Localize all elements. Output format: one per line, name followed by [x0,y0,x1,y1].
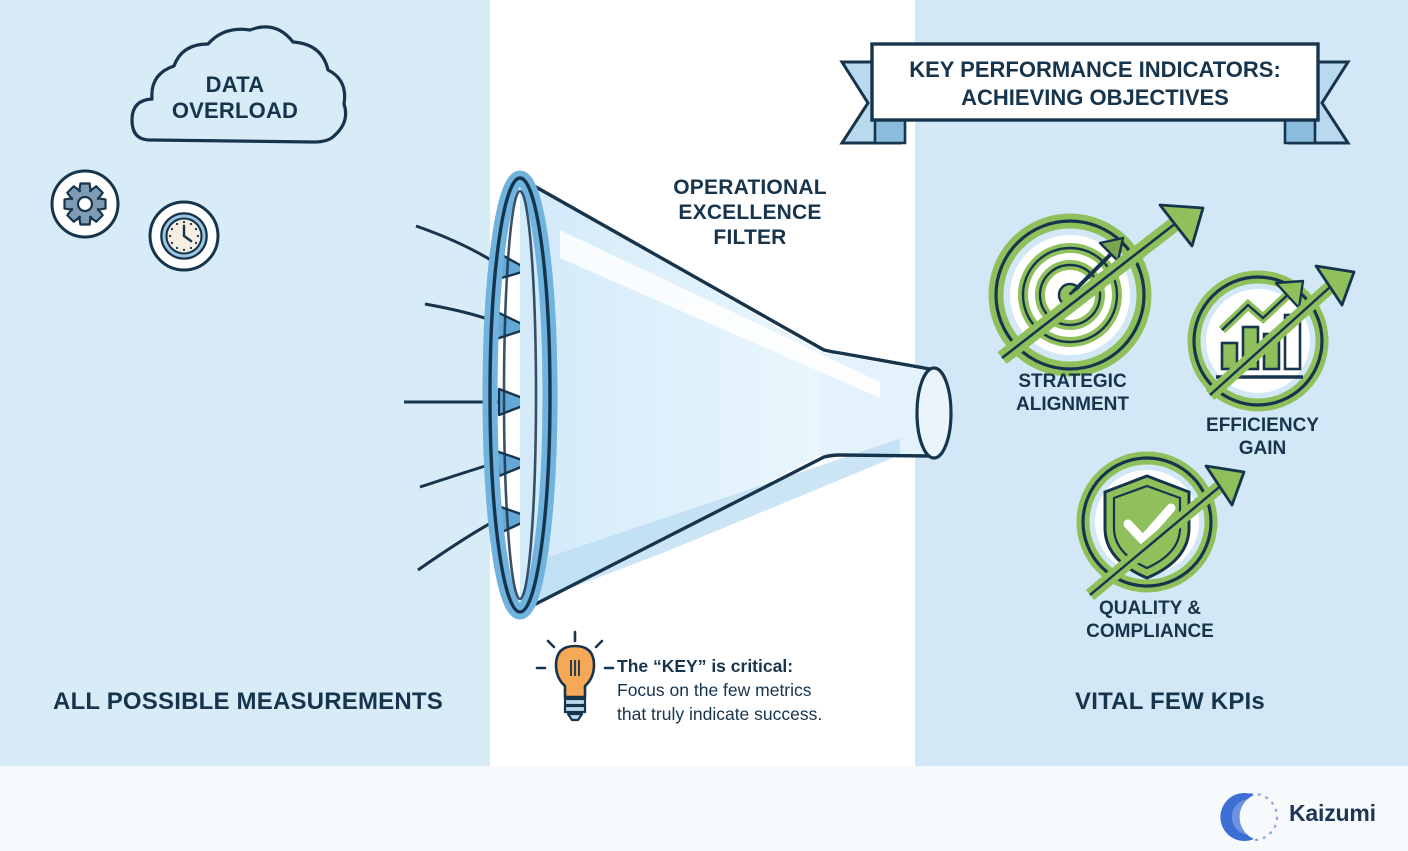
footer-strip [0,766,1408,851]
banner-title: KEY PERFORMANCE INDICATORS:ACHIEVING OBJ… [880,56,1310,111]
infographic-canvas: DATAOVERLOAD OPERATIONALEXCELLENCEFILTER… [0,0,1408,851]
key-note-text: The “KEY” is critical: Focus on the few … [617,655,877,726]
logo-text: Kaizumi [1289,800,1376,827]
kpi-label-strategic-alignment: STRATEGICALIGNMENT [985,371,1160,417]
funnel-label: OPERATIONALEXCELLENCEFILTER [640,176,860,250]
logo-mark-spacer [1228,789,1280,837]
kpi-label-efficiency-gain: EFFICIENCYGAIN [1175,415,1350,461]
key-note-line1: The “KEY” is critical: [617,656,793,676]
brand-logo: Kaizumi [1228,789,1376,837]
left-bottom-label: ALL POSSIBLE MEASUREMENTS [28,688,468,716]
panel-filter [490,0,915,766]
kpi-label-quality-compliance: QUALITY &COMPLIANCE [1060,598,1240,644]
key-note-line3: that truly indicate success. [617,704,822,724]
cloud-label: DATAOVERLOAD [150,72,320,124]
key-note-line2: Focus on the few metrics [617,680,812,700]
right-bottom-label: VITAL FEW KPIs [1020,688,1320,716]
